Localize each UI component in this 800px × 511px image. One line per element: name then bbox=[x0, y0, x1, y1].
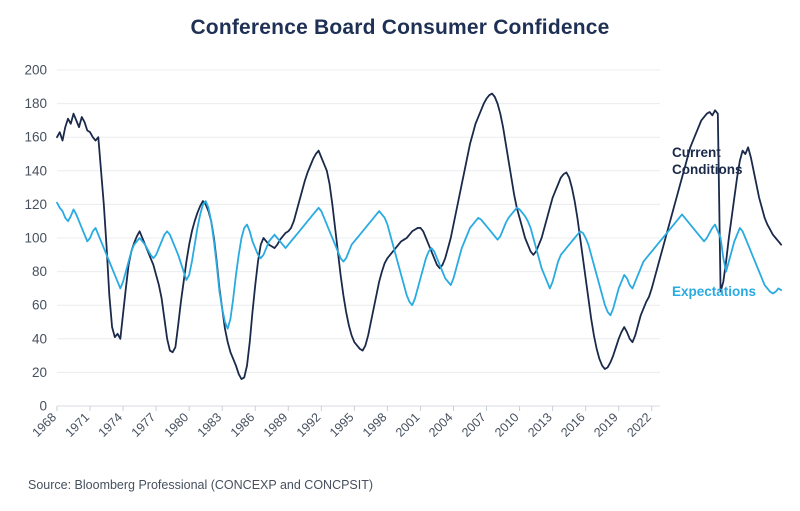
gridlines-group bbox=[57, 70, 660, 406]
chart-legend: CurrentConditionsExpectations bbox=[672, 145, 756, 299]
y-axis-tick-label: 20 bbox=[32, 365, 47, 380]
x-axis-tick-label: 2016 bbox=[558, 410, 588, 440]
x-axis-tick-label: 2010 bbox=[492, 410, 522, 440]
series-line-current-conditions bbox=[57, 94, 781, 380]
source-note: Source: Bloomberg Professional (CONCEXP … bbox=[28, 478, 373, 492]
y-axis-tick-labels: 020406080100120140160180200 bbox=[24, 63, 47, 414]
data-series-group bbox=[57, 94, 781, 380]
x-axis-tick-label: 2022 bbox=[624, 410, 654, 440]
x-axis-tick-label: 1977 bbox=[129, 410, 159, 440]
y-axis-tick-label: 140 bbox=[24, 163, 47, 178]
x-axis-tick-label: 1980 bbox=[162, 410, 192, 440]
y-axis-tick-label: 160 bbox=[24, 130, 47, 145]
x-axis-tick-label: 2004 bbox=[426, 410, 456, 440]
chart-plot-area: 020406080100120140160180200 196819711974… bbox=[0, 0, 800, 470]
y-axis-tick-label: 60 bbox=[32, 298, 47, 313]
x-axis-tick-label: 1998 bbox=[360, 410, 390, 440]
chart-card: Conference Board Consumer Confidence 020… bbox=[0, 0, 800, 511]
x-axis-tick-label: 1971 bbox=[63, 410, 93, 440]
x-axis-tick-label: 1986 bbox=[228, 410, 258, 440]
x-axis-tick-label: 2019 bbox=[591, 410, 621, 440]
y-axis-tick-label: 80 bbox=[32, 264, 47, 279]
legend-label-expectations: Expectations bbox=[672, 284, 756, 299]
y-axis-tick-label: 180 bbox=[24, 96, 47, 111]
line-chart-svg: 020406080100120140160180200 196819711974… bbox=[0, 0, 800, 470]
x-axis-tick-label: 2007 bbox=[459, 410, 489, 440]
x-axis-tick-label: 1992 bbox=[294, 410, 324, 440]
y-axis-tick-label: 40 bbox=[32, 331, 47, 346]
series-line-expectations bbox=[57, 201, 781, 329]
x-axis-tick-label: 1968 bbox=[30, 410, 60, 440]
x-axis-tick-label: 1995 bbox=[327, 410, 357, 440]
y-axis-tick-label: 200 bbox=[24, 63, 47, 78]
x-axis-tick-label: 1974 bbox=[96, 410, 126, 440]
x-axis-tick-label: 1989 bbox=[261, 410, 291, 440]
y-axis-tick-label: 120 bbox=[24, 197, 47, 212]
y-axis-tick-label: 0 bbox=[39, 399, 47, 414]
x-axis-tick-labels: 1968197119741977198019831986198919921995… bbox=[30, 410, 654, 440]
x-axis-tick-label: 1983 bbox=[195, 410, 225, 440]
x-axis-tick-marks bbox=[57, 406, 652, 411]
y-axis-tick-label: 100 bbox=[24, 231, 47, 246]
legend-label-current-conditions: CurrentConditions bbox=[672, 145, 743, 177]
x-axis-tick-label: 2001 bbox=[393, 410, 423, 440]
x-axis-tick-label: 2013 bbox=[525, 410, 555, 440]
